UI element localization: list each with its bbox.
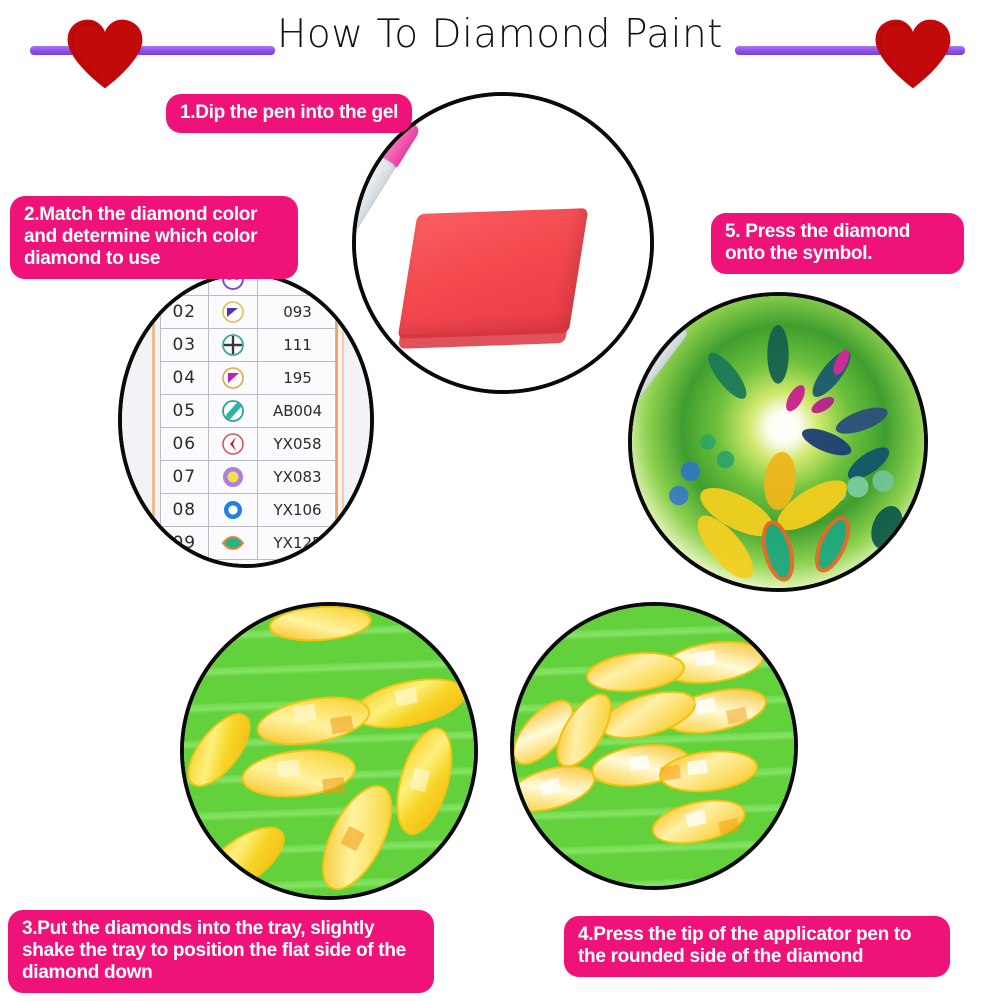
legend-code: YX125	[258, 527, 336, 560]
legend-symbol	[208, 362, 258, 395]
legend-symbol	[208, 395, 258, 428]
legend-table: 028 02 093 03	[160, 272, 336, 560]
infographic-canvas: How To Diamond Paint	[0, 0, 1001, 1001]
arrow-left-red-icon	[220, 432, 245, 457]
legend-index: 03	[161, 329, 209, 362]
table-row: 03 111	[161, 329, 336, 362]
legend-code: 195	[258, 362, 336, 395]
chart-margin-right-2	[342, 276, 344, 564]
table-row: 02 093	[161, 296, 336, 329]
tray-diamonds	[184, 606, 474, 896]
photo-diamonds-in-tray	[180, 602, 478, 900]
legend-index: 02	[161, 296, 209, 329]
gel-pad	[398, 208, 589, 339]
legend-code: YX083	[258, 461, 336, 494]
table-row: 04 195	[161, 362, 336, 395]
legend-index: 09	[161, 527, 209, 560]
legend-symbol	[208, 329, 258, 362]
tray-diamonds-2	[514, 606, 794, 886]
photo-press-on-symbol	[628, 292, 928, 592]
heart-icon-left	[66, 18, 144, 90]
table-row: 08 YX106	[161, 494, 336, 527]
legend-code: AB004	[258, 395, 336, 428]
chart-sheet: 028 02 093 03	[122, 276, 370, 564]
triangle-purple-icon	[220, 300, 245, 325]
slash-teal-icon	[220, 399, 245, 424]
legend-symbol	[208, 494, 258, 527]
legend-index: 08	[161, 494, 209, 527]
table-row: 06 YX058	[161, 428, 336, 461]
legend-symbol	[208, 296, 258, 329]
legend-code: 093	[258, 296, 336, 329]
dot-yellow-purple-icon	[220, 465, 245, 490]
step-2-label[interactable]: 2.Match the diamond color and determine …	[12, 198, 296, 277]
legend-index: 06	[161, 428, 209, 461]
step-4-label[interactable]: 4.Press the tip of the applicator pen to…	[566, 918, 948, 975]
heart-icon-right	[874, 18, 952, 90]
step-3-label[interactable]: 3.Put the diamonds into the tray, slight…	[10, 912, 432, 991]
legend-symbol	[208, 428, 258, 461]
page-title: How To Diamond Paint	[255, 12, 745, 57]
triangle-magenta-icon	[220, 366, 245, 391]
legend-index: 07	[161, 461, 209, 494]
step-1-label[interactable]: 1.Dip the pen into the gel	[168, 96, 410, 131]
chart-margin-left	[152, 276, 155, 564]
plus-teal-icon	[220, 333, 245, 358]
legend-code: YX106	[258, 494, 336, 527]
ring-blue-icon	[220, 498, 245, 523]
table-row: 09 YX125	[161, 527, 336, 560]
photo-dip-pen-in-gel	[352, 92, 654, 394]
photo-pick-up-diamond	[510, 602, 798, 890]
legend-table-body: 028 02 093 03	[161, 272, 336, 560]
photo-color-chart: 028 02 093 03	[118, 272, 374, 568]
legend-symbol	[208, 461, 258, 494]
leaf-green-orange-icon	[220, 531, 245, 556]
table-row: 05 AB004	[161, 395, 336, 428]
legend-index: 04	[161, 362, 209, 395]
table-row: 07 YX083	[161, 461, 336, 494]
step-5-label[interactable]: 5. Press the diamond onto the symbol.	[713, 215, 962, 272]
legend-code: 111	[258, 329, 336, 362]
legend-code: YX058	[258, 428, 336, 461]
legend-index: 05	[161, 395, 209, 428]
legend-symbol	[208, 527, 258, 560]
